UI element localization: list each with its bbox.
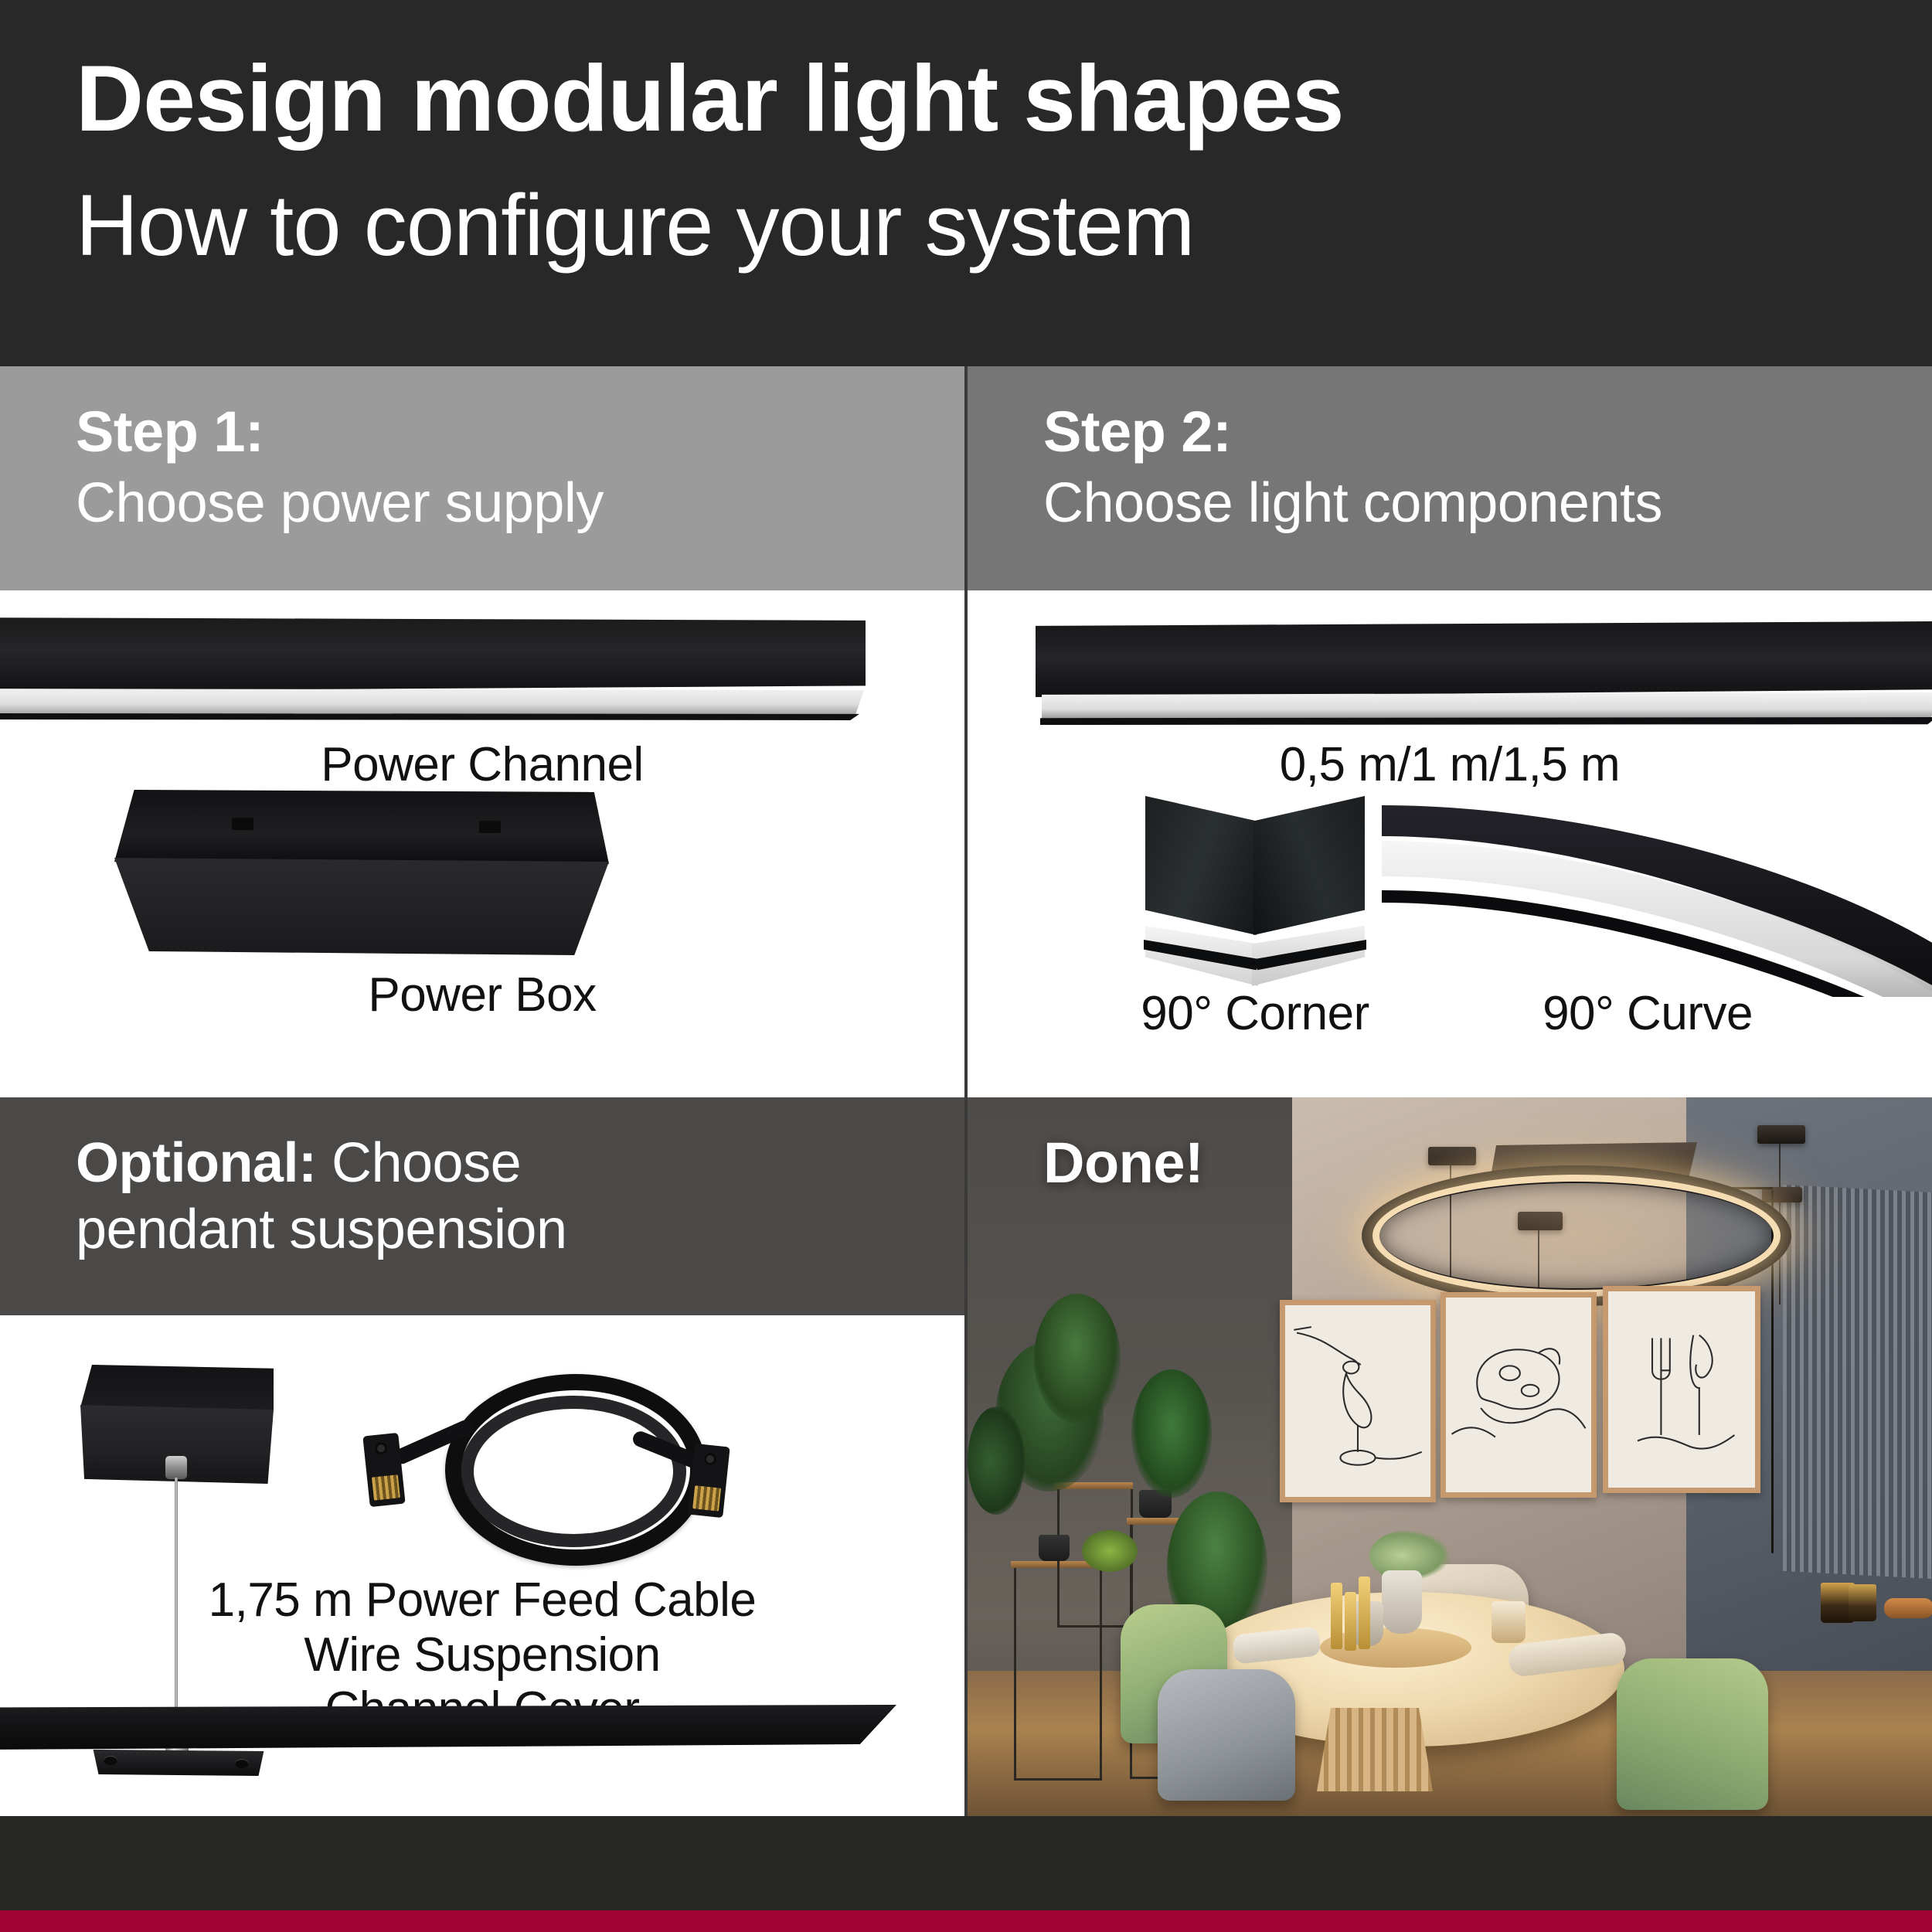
- power-box-icon: [114, 790, 609, 968]
- curve-caption: 90° Curve: [1408, 986, 1887, 1041]
- panel-done: Done!: [968, 1097, 1932, 1816]
- counter-fruit-bowl: [1884, 1598, 1932, 1618]
- dining-chair: [1158, 1669, 1295, 1801]
- optional-caption-line-2: Wire Suspension: [0, 1628, 964, 1683]
- done-label: Done!: [1043, 1130, 1203, 1196]
- corner-connector-icon: [1131, 796, 1379, 974]
- table-tray: [1320, 1628, 1471, 1668]
- wall-art-frame: [1280, 1300, 1436, 1502]
- panel-step-2: Step 2: Choose light components 0,5 m/1 …: [968, 366, 1932, 1097]
- wall-art-frame: [1440, 1292, 1597, 1498]
- table-candle: [1331, 1583, 1342, 1649]
- table-candle: [1345, 1592, 1356, 1651]
- power-channel-icon: [0, 617, 904, 726]
- infographic-page: Design modular light shapes How to confi…: [0, 0, 1932, 1932]
- step-2-number: Step 2:: [1043, 399, 1932, 464]
- light-bar-caption: 0,5 m/1 m/1,5 m: [968, 737, 1932, 792]
- room-scene-photo: Done!: [968, 1097, 1932, 1816]
- page-title: Design modular light shapes: [76, 48, 1344, 150]
- step-2-header: Step 2: Choose light components: [968, 366, 1932, 590]
- power-feed-cable-icon: [354, 1369, 756, 1563]
- dining-chair: [1617, 1658, 1768, 1810]
- panel-optional: Optional: Choose pendant suspension 1,75…: [0, 1097, 964, 1816]
- channel-cover-icon: [0, 1705, 935, 1774]
- table-vase: [1382, 1570, 1422, 1634]
- step-1-number: Step 1:: [76, 399, 964, 464]
- optional-caption-line-1: 1,75 m Power Feed Cable: [0, 1573, 964, 1628]
- power-box-caption: Power Box: [0, 968, 964, 1022]
- panel-divider: [964, 366, 968, 1816]
- optional-header: Optional: Choose pendant suspension: [0, 1097, 964, 1315]
- optional-label: Optional: Choose: [76, 1130, 964, 1196]
- step-1-header: Step 1: Choose power supply: [0, 366, 964, 590]
- footer-bar: [0, 1816, 1932, 1910]
- light-bar-icon: [1036, 621, 1932, 733]
- curve-connector-icon: [1377, 788, 1932, 997]
- wall-art-frame: [1603, 1286, 1760, 1493]
- ceiling-mount-icon: [1757, 1125, 1805, 1144]
- page-subtitle: How to configure your system: [76, 179, 1194, 273]
- step-2-description: Choose light components: [1043, 471, 1932, 536]
- optional-label-line2: pendant suspension: [76, 1196, 964, 1263]
- table-candle: [1359, 1577, 1370, 1649]
- optional-label-bold: Optional:: [76, 1132, 316, 1194]
- panel-step-1: Step 1: Choose power supply Power Channe…: [0, 366, 964, 1097]
- counter-bottle: [1849, 1584, 1876, 1621]
- power-channel-caption: Power Channel: [0, 737, 964, 792]
- step-1-description: Choose power supply: [76, 471, 964, 536]
- header-banner: Design modular light shapes How to confi…: [0, 0, 1932, 366]
- optional-label-rest: Choose: [316, 1132, 521, 1194]
- table-cup: [1492, 1601, 1526, 1643]
- accent-strip: [0, 1910, 1932, 1932]
